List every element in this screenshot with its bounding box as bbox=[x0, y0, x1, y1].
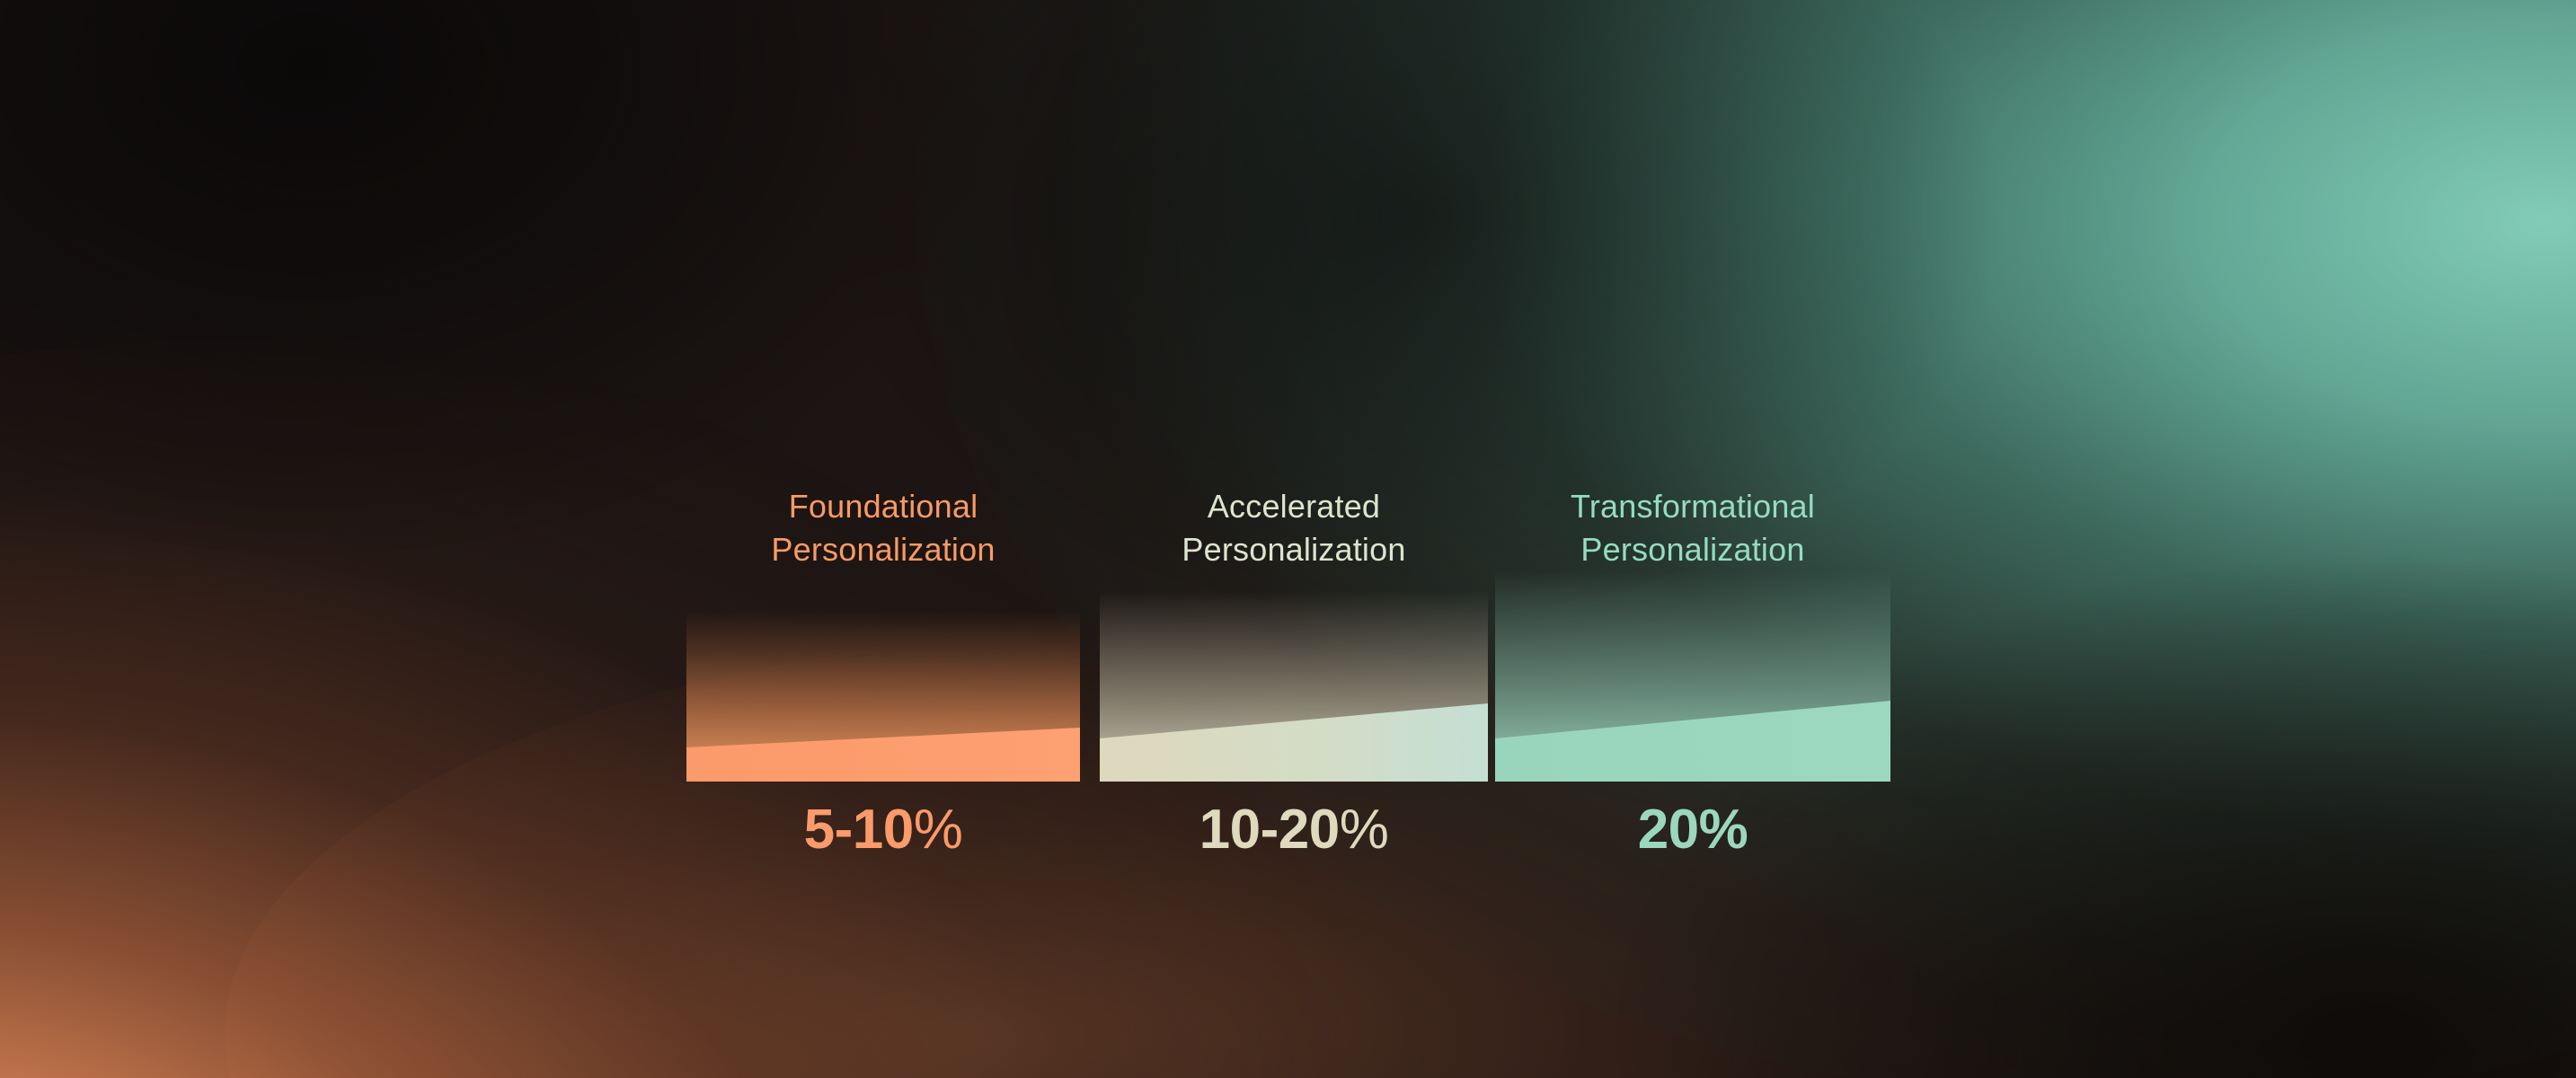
chart-column-accelerated[interactable]: AcceleratedPersonalization 10-20% bbox=[1100, 485, 1488, 782]
bar-shape-foundational bbox=[686, 611, 1080, 782]
percent-sign-foundational: % bbox=[914, 799, 963, 861]
bar-shape-transformational bbox=[1495, 571, 1890, 782]
percent-sign-transformational: % bbox=[1699, 799, 1748, 861]
column-panel-transformational bbox=[1495, 571, 1890, 782]
column-bar-transformational bbox=[1495, 571, 1890, 782]
personalization-impact-chart: FoundationalPersonalization 5-10% Accele… bbox=[686, 485, 1890, 782]
column-label-accelerated: AcceleratedPersonalization bbox=[1100, 485, 1488, 571]
column-label-foundational: FoundationalPersonalization bbox=[686, 485, 1080, 571]
column-value-accelerated: 10-20% bbox=[1100, 798, 1488, 862]
chart-column-transformational[interactable]: TransformationalPersonalization 20% bbox=[1495, 485, 1890, 782]
chart-column-foundational[interactable]: FoundationalPersonalization 5-10% bbox=[686, 485, 1080, 782]
bar-shape-accelerated bbox=[1100, 591, 1488, 782]
column-panel-accelerated bbox=[1100, 591, 1488, 782]
column-value-transformational: 20% bbox=[1495, 798, 1890, 862]
column-panel-foundational bbox=[686, 611, 1080, 782]
percent-sign-accelerated: % bbox=[1340, 799, 1389, 861]
column-bar-foundational bbox=[686, 611, 1080, 782]
column-value-foundational: 5-10% bbox=[686, 798, 1080, 862]
column-bar-accelerated bbox=[1100, 591, 1488, 782]
column-label-transformational: TransformationalPersonalization bbox=[1495, 485, 1890, 571]
